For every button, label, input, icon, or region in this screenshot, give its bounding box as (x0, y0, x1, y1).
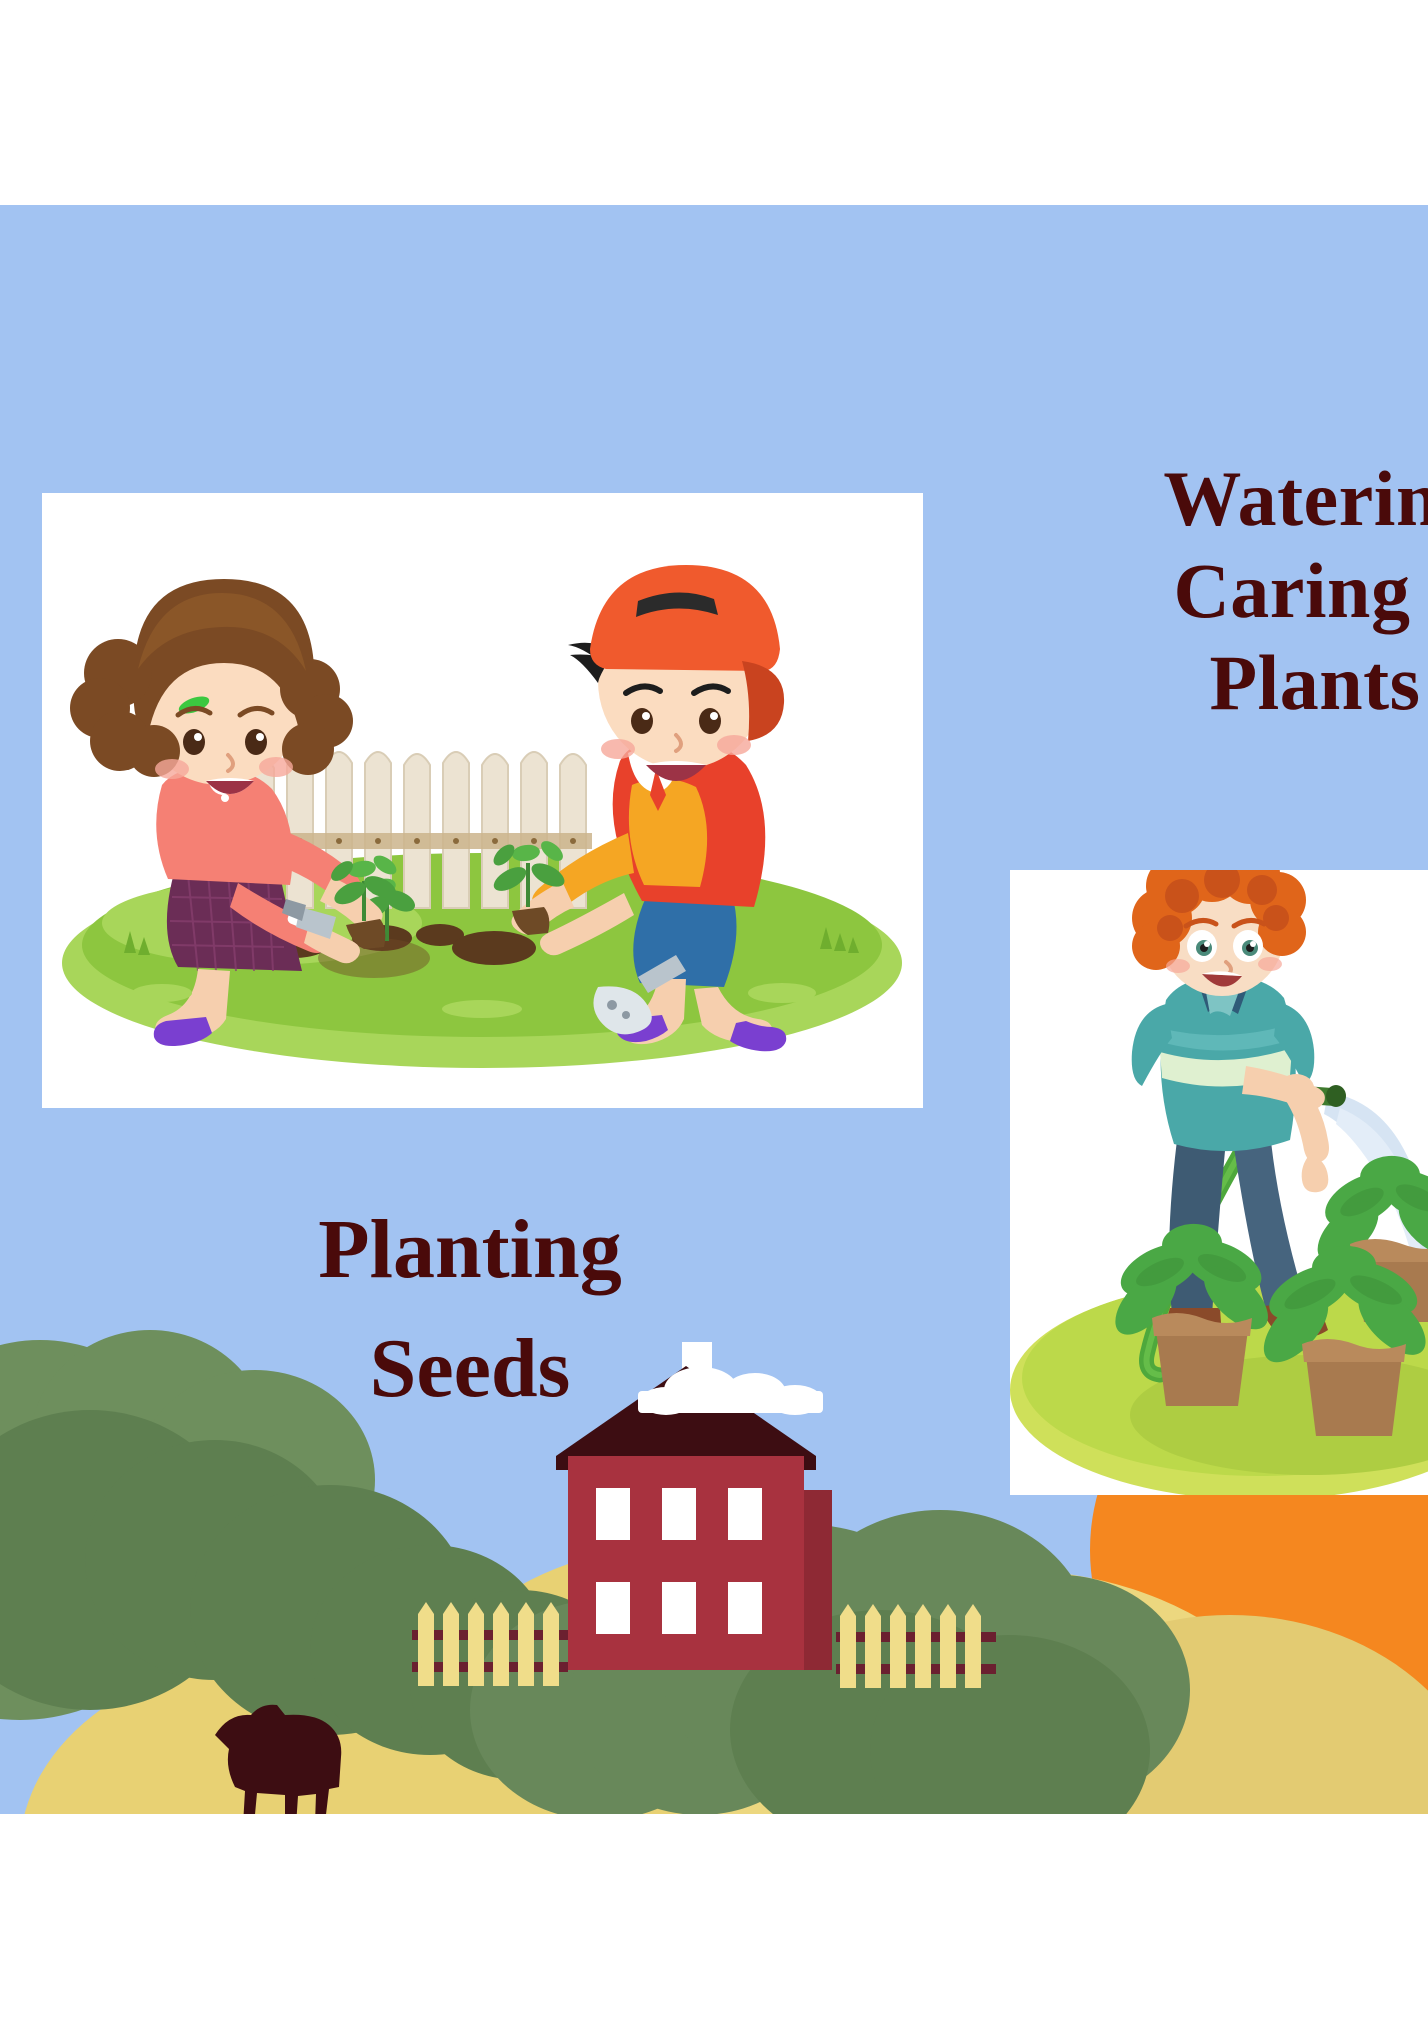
title-line-2: Caring for (975, 545, 1428, 637)
title-line-1: Watering and (1060, 453, 1428, 545)
watering-plants-photo[interactable] (1010, 870, 1428, 1495)
planting-seeds-photo[interactable] (42, 493, 923, 1108)
caption-line-1: Planting (160, 1190, 780, 1309)
page-title: Watering and Caring for Plants (1090, 453, 1428, 729)
caption-line-2: Seeds (160, 1309, 780, 1428)
planting-seeds-caption: Planting Seeds (160, 1190, 780, 1429)
title-line-3: Plants (900, 637, 1428, 729)
slide-canvas: Watering and Caring for Plants Planting … (0, 205, 1428, 1814)
picket-fence-icon (242, 752, 592, 908)
